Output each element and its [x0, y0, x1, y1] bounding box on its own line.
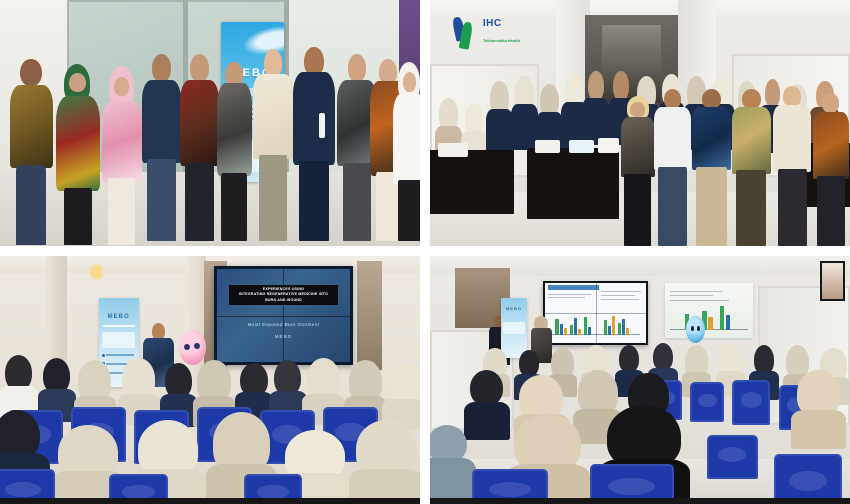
video-wall-display[interactable]: [543, 281, 648, 345]
chart-bar: [555, 319, 558, 335]
chart-bar: [622, 319, 625, 335]
mebo-banner-logo: MEBO: [101, 314, 136, 320]
chart-bar: [570, 325, 573, 335]
panel-bottom-right[interactable]: MEBO: [430, 256, 850, 504]
framed-portrait: [820, 261, 845, 301]
slide-title-bar: EXPERIENCES USING INTEGRATING REGENERATI…: [229, 285, 338, 305]
chart-bar: [560, 324, 563, 335]
chart-bar: [608, 326, 611, 335]
chart-bar: [564, 328, 567, 335]
id-badge: [319, 113, 324, 138]
slide-title-line2: INTEGRATING REGENERATIVE MEDICINE INTO: [229, 292, 338, 297]
demo-table-left: [430, 150, 514, 214]
photo-bottom-edge: [430, 498, 850, 504]
panel-top-right[interactable]: IHC Telkomedika Health: [430, 0, 850, 246]
presentation-slide: EXPERIENCES USING INTEGRATING REGENERATI…: [217, 269, 350, 362]
ihc-mark-icon: [451, 17, 480, 52]
bird-balloon: [686, 316, 705, 343]
slide-subtitle: Moist Exposed Burn Ointment: [217, 322, 350, 327]
slide-title-line3: BURN AND WOUND: [229, 298, 338, 303]
ihc-logo-subtitle: Telkomedika Health: [483, 38, 520, 43]
ihc-logo: IHC Telkomedika Health: [451, 15, 535, 59]
wound-care-kit: [598, 138, 619, 153]
chart-bar: [612, 316, 615, 335]
chart-bar: [584, 317, 587, 335]
panel-top-left[interactable]: MEBO: [0, 0, 420, 246]
panel-bottom-left[interactable]: EXPERIENCES USING INTEGRATING REGENERATI…: [0, 256, 420, 504]
chart-bar: [578, 329, 581, 335]
chart-bar: [604, 320, 607, 335]
wound-care-kit: [438, 143, 467, 158]
wall-projection: [665, 283, 753, 338]
video-wall-display[interactable]: EXPERIENCES USING INTEGRATING REGENERATI…: [214, 266, 353, 365]
demo-table-center: [527, 148, 619, 219]
chart-bar: [626, 328, 629, 335]
chart-slide: [545, 283, 646, 343]
chart-bar: [618, 323, 621, 334]
wound-care-kit: [569, 140, 594, 152]
chart-bar: [574, 318, 577, 335]
photo-collage: MEBO: [0, 0, 850, 504]
wound-care-kit: [535, 140, 560, 152]
chart-bar: [588, 327, 591, 335]
ihc-logo-text: IHC: [483, 18, 502, 29]
photo-bottom-edge: [0, 498, 420, 504]
slide-brand: MEBO: [217, 334, 350, 339]
